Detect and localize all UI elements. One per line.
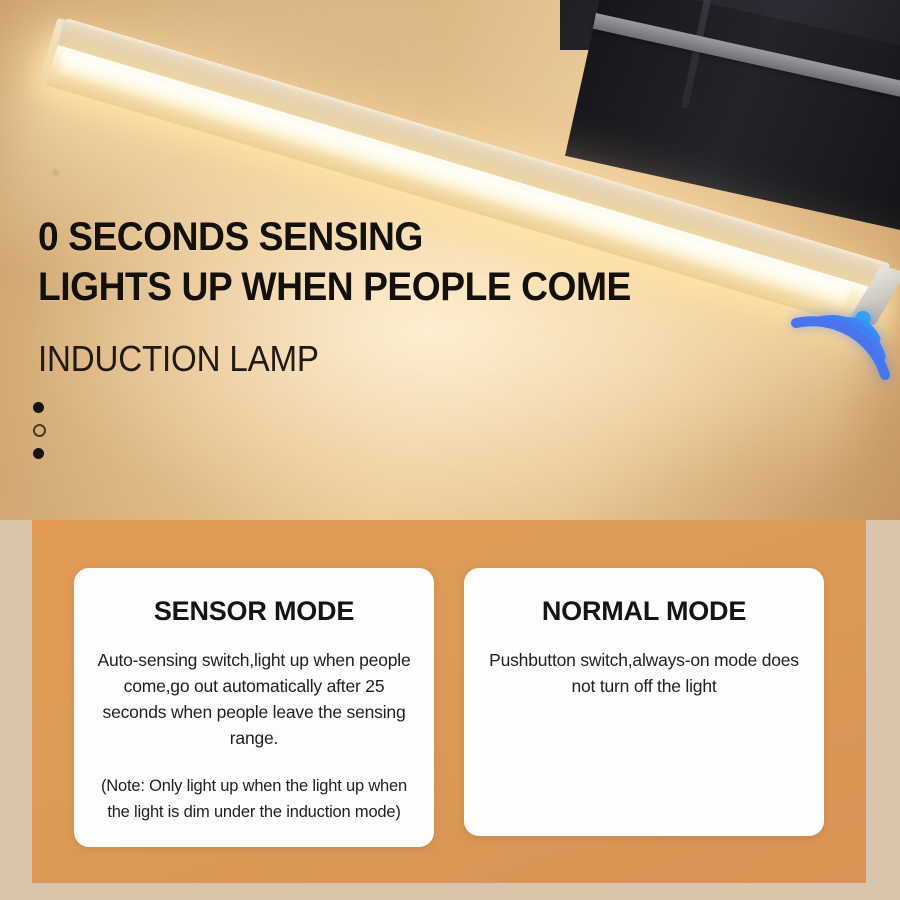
bullet-dot-3 [33, 448, 44, 459]
page-title: 0 SECONDS SENSING LIGHTS UP WHEN PEOPLE … [38, 212, 631, 312]
page-subtitle: INDUCTION LAMP [38, 338, 319, 380]
sensor-mode-card: SENSOR MODE Auto-sensing switch,light up… [74, 568, 434, 847]
sensor-mode-title: SENSOR MODE [96, 596, 412, 627]
normal-mode-card: NORMAL MODE Pushbutton switch,always-on … [464, 568, 824, 836]
headline-line-2: LIGHTS UP WHEN PEOPLE COME [38, 262, 631, 312]
headline-line-1: 0 SECONDS SENSING [38, 212, 631, 262]
product-marketing-image: 0 SECONDS SENSING LIGHTS UP WHEN PEOPLE … [0, 0, 900, 900]
hero-photo: 0 SECONDS SENSING LIGHTS UP WHEN PEOPLE … [0, 0, 900, 520]
normal-mode-body: Pushbutton switch,always-on mode does no… [486, 647, 802, 699]
sensor-mode-note: (Note: Only light up when the light up w… [96, 773, 412, 825]
signal-wave-icon [780, 305, 890, 385]
normal-mode-title: NORMAL MODE [486, 596, 802, 627]
modes-panel: SENSOR MODE Auto-sensing switch,light up… [32, 520, 866, 883]
wall-speck [52, 169, 59, 176]
sensor-mode-body: Auto-sensing switch,light up when people… [96, 647, 412, 751]
bullet-dots [33, 402, 53, 470]
bullet-dot-2 [33, 424, 46, 437]
bullet-dot-1 [33, 402, 44, 413]
